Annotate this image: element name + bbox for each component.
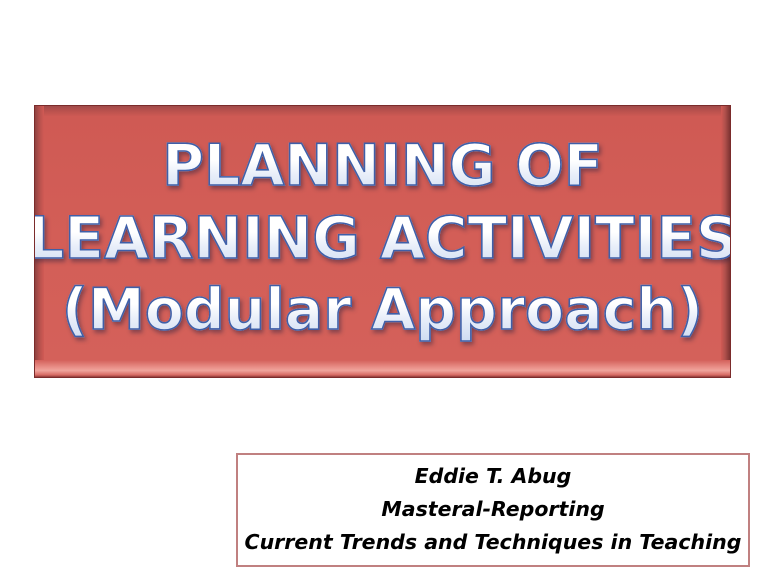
course-title: Current Trends and Techniques in Teachin… — [245, 526, 742, 559]
credit-text-box: Eddie T. Abug Masteral-Reporting Current… — [236, 453, 750, 567]
slide-title: PLANNING OF LEARNING ACTIVITIES (Modular… — [35, 106, 730, 377]
title-line-2: LEARNING ACTIVITIES — [34, 202, 731, 274]
title-banner: PLANNING OF LEARNING ACTIVITIES (Modular… — [34, 105, 731, 378]
report-type: Masteral-Reporting — [381, 493, 604, 526]
title-line-3: (Modular Approach) — [62, 274, 703, 346]
author-name: Eddie T. Abug — [415, 460, 572, 493]
presentation-slide: PLANNING OF LEARNING ACTIVITIES (Modular… — [0, 0, 768, 576]
title-line-1: PLANNING OF — [162, 130, 603, 202]
